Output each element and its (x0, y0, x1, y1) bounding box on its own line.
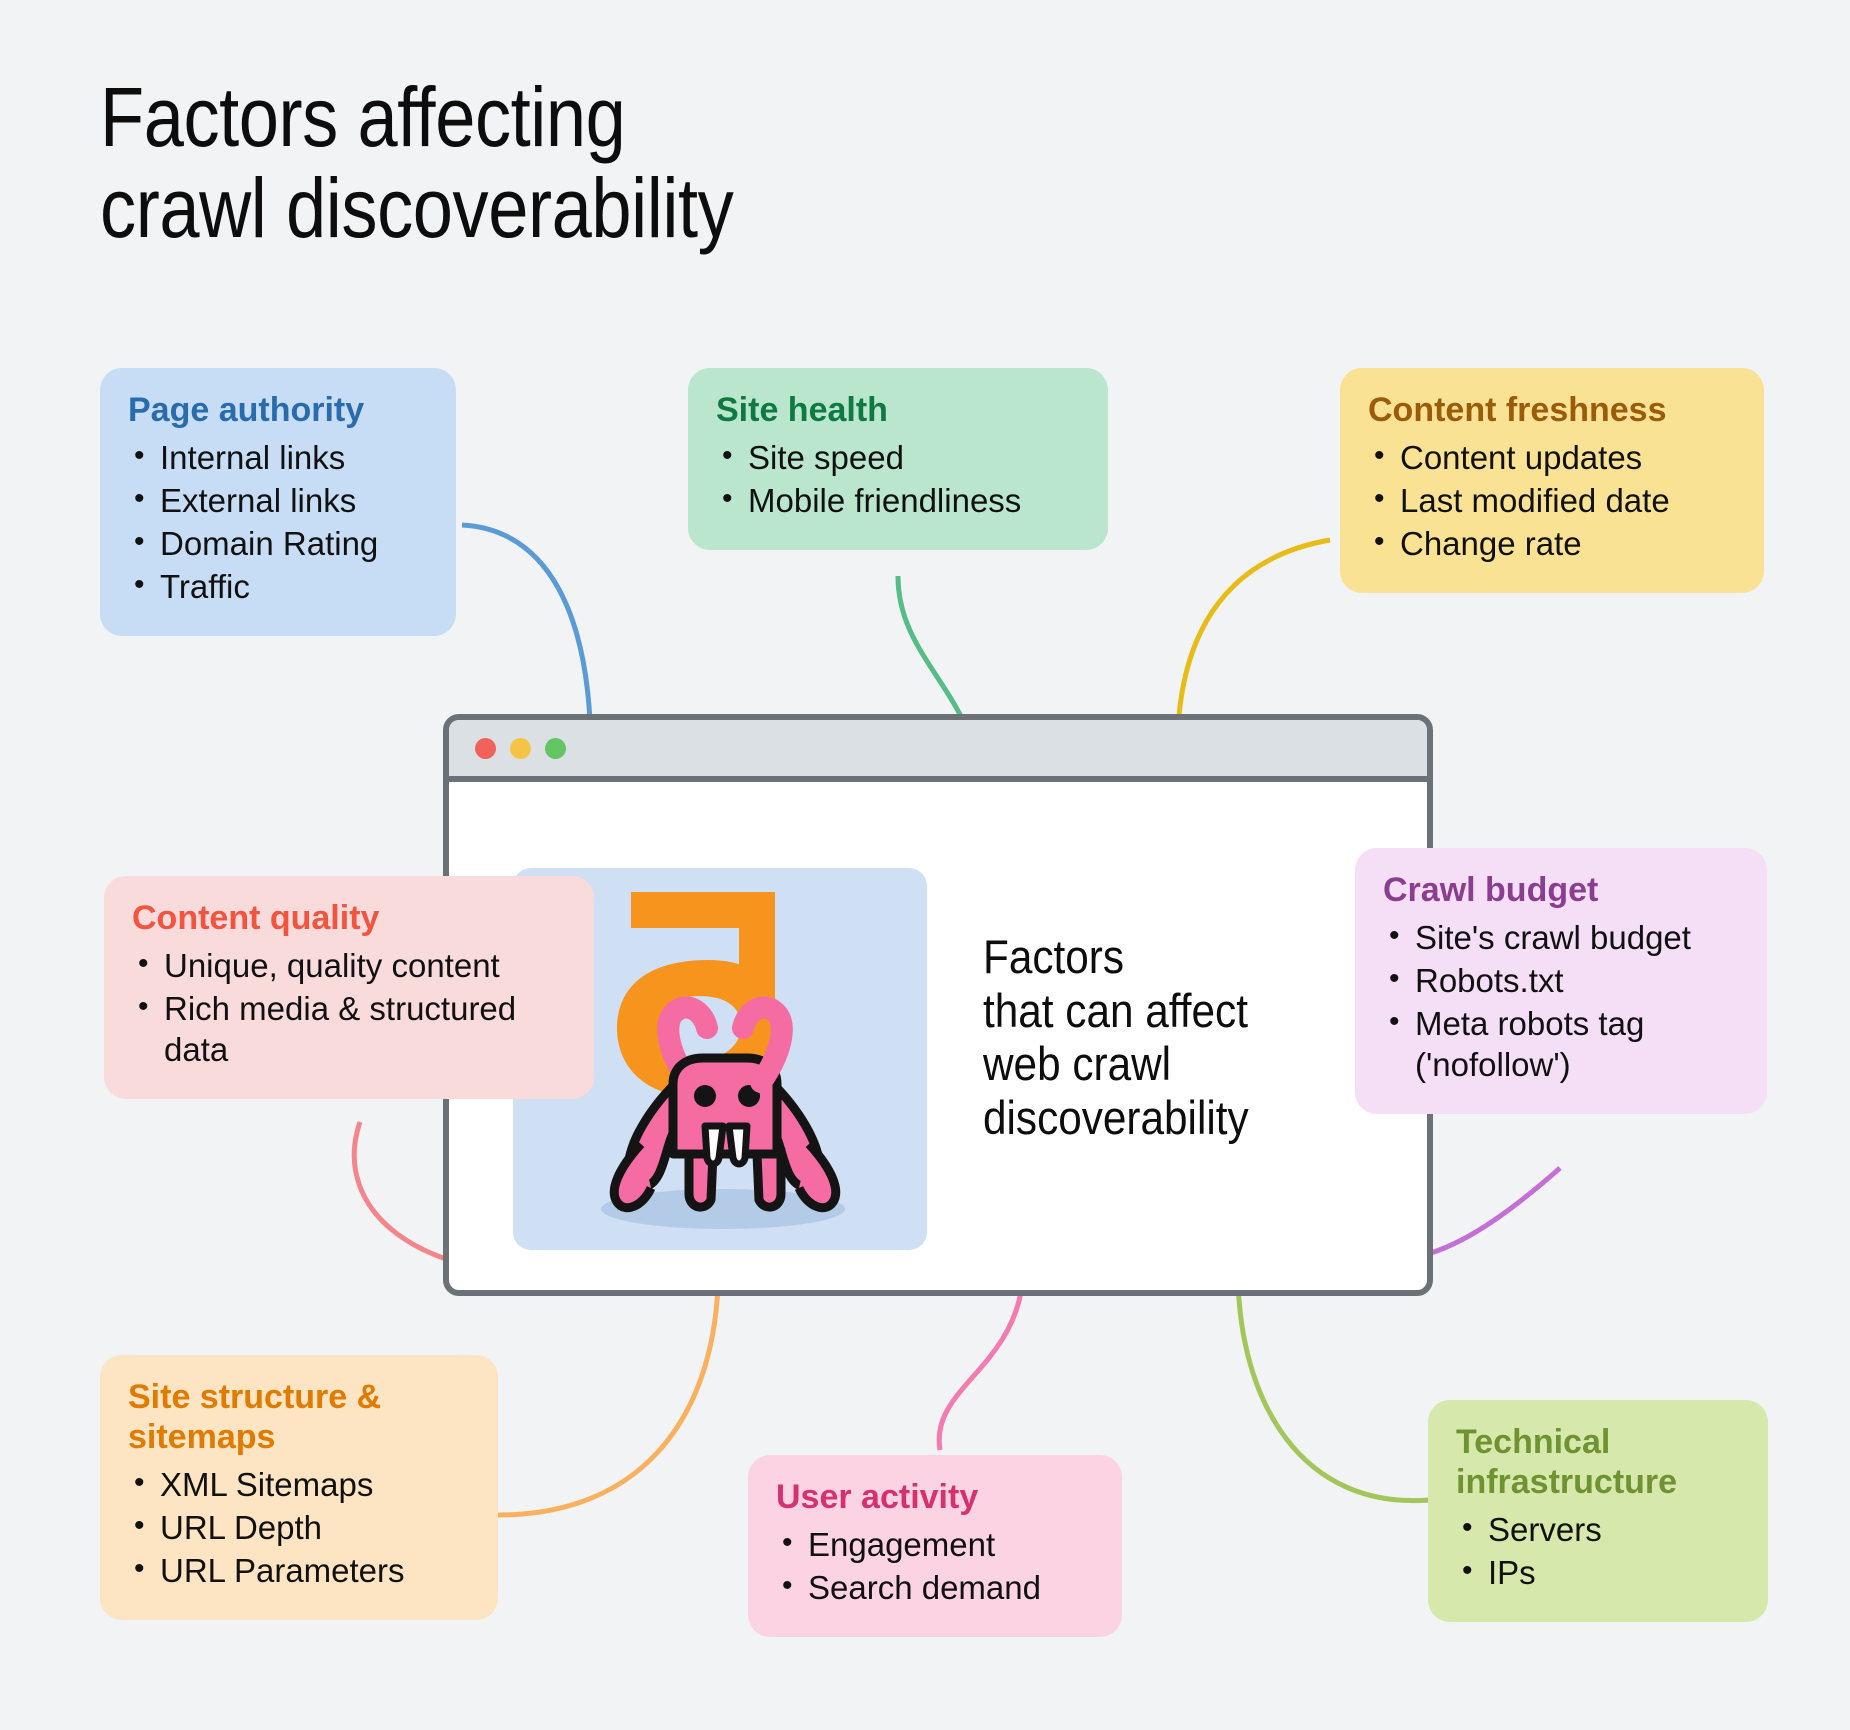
card-list: Servers IPs (1456, 1510, 1740, 1594)
card-crawl-budget[interactable]: Crawl budget Site's crawl budget Robots.… (1355, 848, 1767, 1114)
card-heading: Technical infrastructure (1456, 1422, 1740, 1502)
list-item: Content updates (1368, 438, 1736, 479)
card-content-freshness[interactable]: Content freshness Content updates Last m… (1340, 368, 1764, 593)
card-heading: User activity (776, 1477, 1094, 1517)
list-item: Servers (1456, 1510, 1740, 1551)
card-heading: Content quality (132, 898, 566, 938)
page-title: Factors affecting crawl discoverability (100, 72, 1046, 253)
list-item: Mobile friendliness (716, 481, 1080, 522)
list-item: IPs (1456, 1553, 1740, 1594)
card-heading: Page authority (128, 390, 428, 430)
mascot-eye-left (694, 1085, 716, 1107)
card-user-activity[interactable]: User activity Engagement Search demand (748, 1455, 1122, 1637)
card-heading: Crawl budget (1383, 870, 1739, 910)
browser-title-bar (449, 720, 1427, 782)
card-list: Internal links External links Domain Rat… (128, 438, 428, 608)
maximize-dot[interactable] (545, 738, 566, 759)
minimize-dot[interactable] (510, 738, 531, 759)
list-item: XML Sitemaps (128, 1465, 470, 1506)
list-item: Domain Rating (128, 524, 428, 565)
list-item: Site's crawl budget (1383, 918, 1739, 959)
list-item: Last modified date (1368, 481, 1736, 522)
list-item: Change rate (1368, 524, 1736, 565)
list-item: URL Parameters (128, 1551, 470, 1592)
card-list: Site speed Mobile friendliness (716, 438, 1080, 522)
card-site-health[interactable]: Site health Site speed Mobile friendline… (688, 368, 1108, 550)
infographic-canvas: Factors affecting crawl discoverability (0, 0, 1850, 1730)
close-dot[interactable] (475, 738, 496, 759)
card-list: Site's crawl budget Robots.txt Meta robo… (1383, 918, 1739, 1086)
list-item: Unique, quality content (132, 946, 566, 987)
browser-viewport: Factors that can affect web crawl discov… (449, 782, 1427, 1296)
mascot-fang-right (729, 1126, 747, 1164)
list-item: Rich media & structured data (132, 989, 566, 1071)
card-heading: Site health (716, 390, 1080, 430)
card-list: Unique, quality content Rich media & str… (132, 946, 566, 1071)
card-list: Content updates Last modified date Chang… (1368, 438, 1736, 565)
list-item: Site speed (716, 438, 1080, 479)
card-content-quality[interactable]: Content quality Unique, quality content … (104, 876, 594, 1099)
list-item: Internal links (128, 438, 428, 479)
list-item: Engagement (776, 1525, 1094, 1566)
card-list: Engagement Search demand (776, 1525, 1094, 1609)
list-item: Robots.txt (1383, 961, 1739, 1002)
list-item: Search demand (776, 1568, 1094, 1609)
list-item: Meta robots tag ('nofollow') (1383, 1004, 1739, 1086)
browser-center-text: Factors that can affect web crawl discov… (983, 930, 1361, 1144)
list-item: Traffic (128, 567, 428, 608)
card-list: XML Sitemaps URL Depth URL Parameters (128, 1465, 470, 1592)
card-heading: Content freshness (1368, 390, 1736, 430)
list-item: External links (128, 481, 428, 522)
card-site-structure-sitemaps[interactable]: Site structure & sitemaps XML Sitemaps U… (100, 1355, 498, 1620)
connector-site-structure (498, 1258, 732, 1515)
card-page-authority[interactable]: Page authority Internal links External l… (100, 368, 456, 636)
card-heading: Site structure & sitemaps (128, 1377, 470, 1457)
list-item: URL Depth (128, 1508, 470, 1549)
mascot-fang-left (705, 1126, 723, 1164)
card-technical-infrastructure[interactable]: Technical infrastructure Servers IPs (1428, 1400, 1768, 1622)
